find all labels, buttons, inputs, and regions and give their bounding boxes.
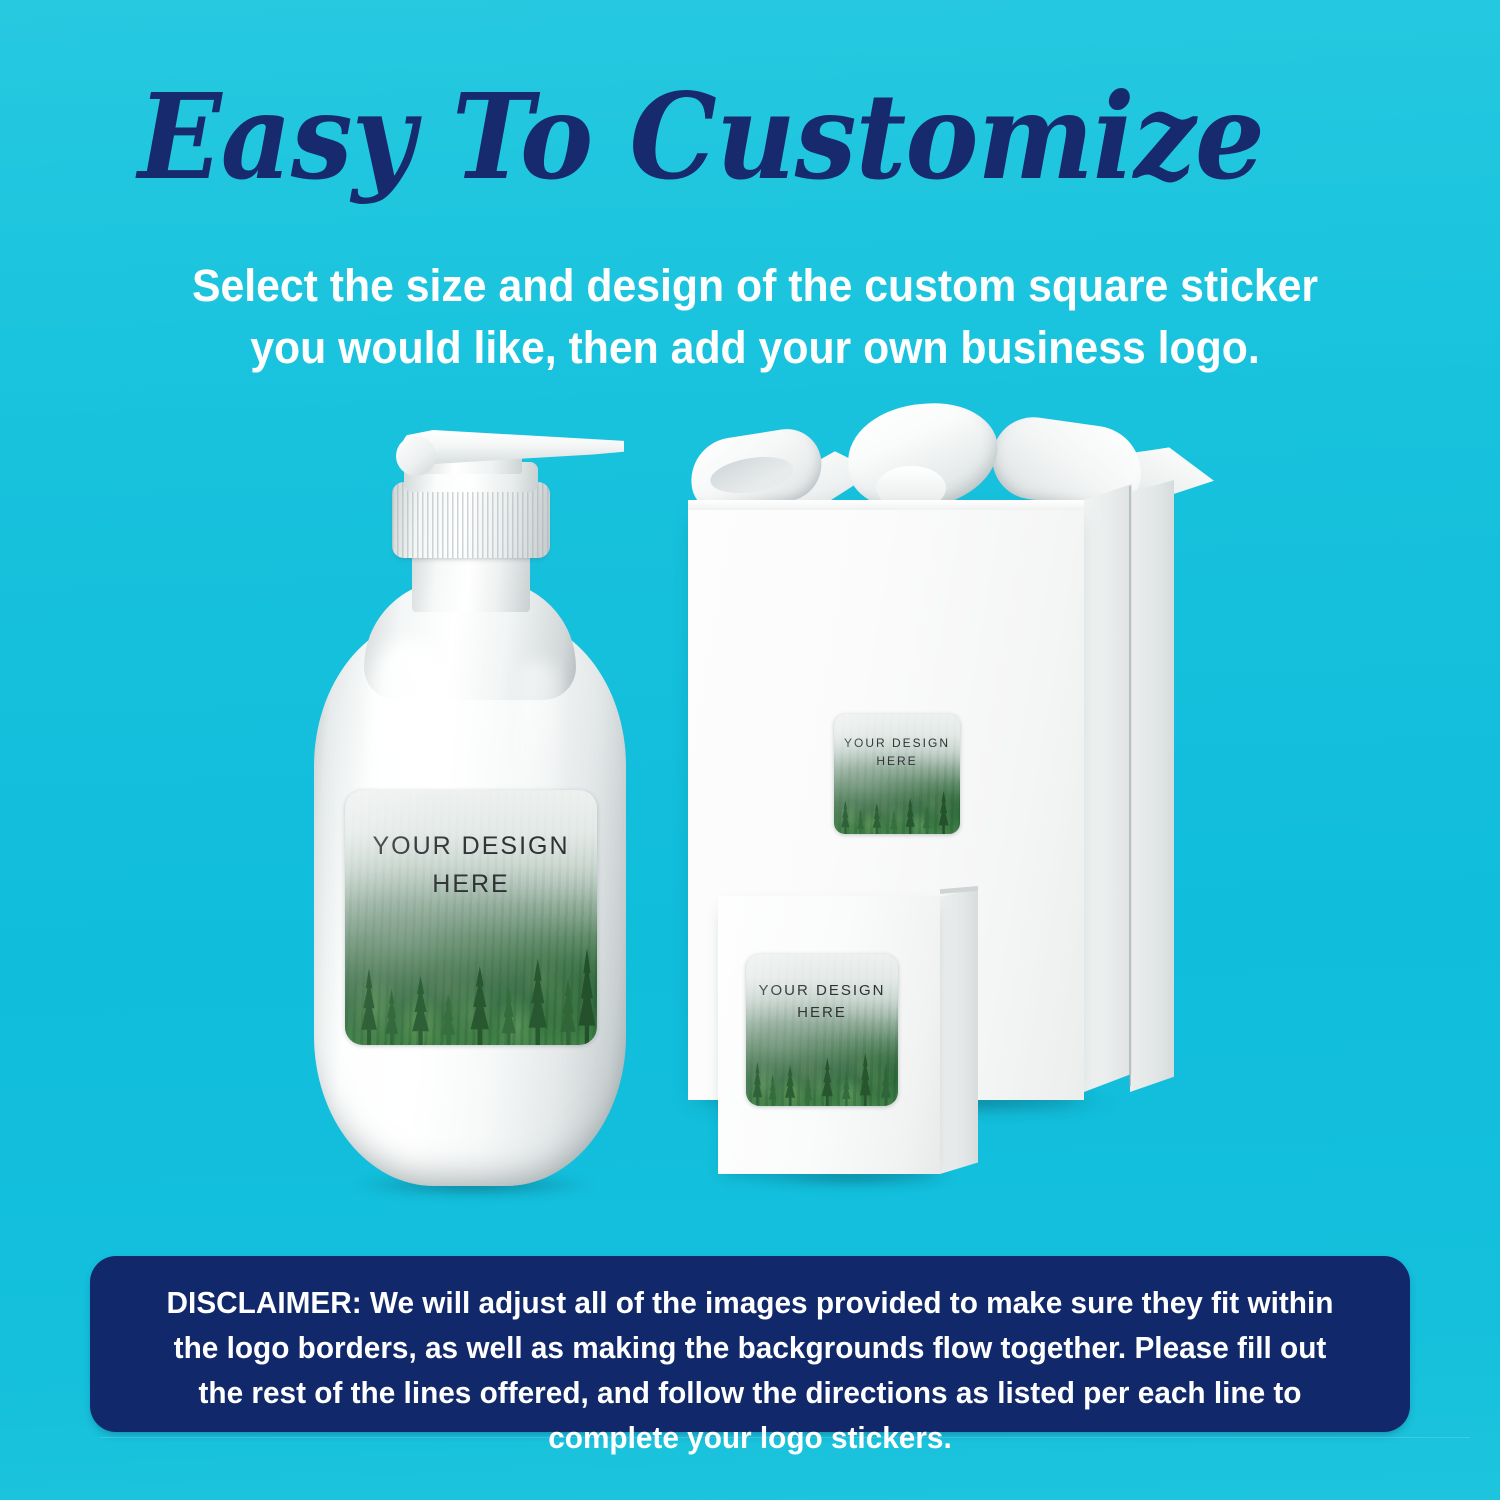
forest-artwork [834, 714, 960, 834]
sticker-line-1: YOUR DESIGN [345, 832, 597, 861]
gift-box-top-bevel [688, 500, 1084, 510]
disclaimer-text: DISCLAIMER: We will adjust all of the im… [116, 1256, 1383, 1460]
sticker-line-1: YOUR DESIGN [746, 982, 898, 999]
page-subtitle: Select the size and design of the custom… [142, 255, 1368, 379]
gift-box-seam [1129, 486, 1131, 1086]
small-box-sticker: YOUR DESIGN HERE [746, 954, 898, 1106]
forest-artwork [746, 954, 898, 1106]
bottle-sticker-label: YOUR DESIGN HERE [345, 790, 597, 1045]
sticker-line-2: HERE [746, 1004, 898, 1021]
sticker-line-1: YOUR DESIGN [834, 736, 960, 750]
gift-box-side-back [1130, 480, 1174, 1092]
subtitle-line-2: you would like, then add your own busine… [142, 317, 1368, 379]
subtitle-line-1: Select the size and design of the custom… [142, 255, 1368, 317]
gift-box-sticker: YOUR DESIGN HERE [834, 714, 960, 834]
pump-ribbed-collar [392, 482, 550, 558]
small-box-side-face [940, 888, 978, 1174]
page-title: Easy To Customize [138, 78, 1301, 198]
promo-image-canvas: Easy To Customize Select the size and de… [0, 0, 1500, 1500]
pump-bottle-product: YOUR DESIGN HERE [300, 430, 650, 1220]
bottom-divider-line [100, 1437, 1470, 1438]
gift-box-side-front [1084, 484, 1132, 1092]
pump-press-cap [396, 436, 436, 476]
disclaimer-banner: DISCLAIMER: We will adjust all of the im… [90, 1256, 1410, 1432]
small-box-product: YOUR DESIGN HERE [700, 880, 1000, 1200]
forest-artwork [345, 790, 597, 1045]
gift-box-lid-line [688, 528, 1174, 530]
sticker-line-2: HERE [345, 870, 597, 899]
sticker-line-2: HERE [834, 754, 960, 768]
